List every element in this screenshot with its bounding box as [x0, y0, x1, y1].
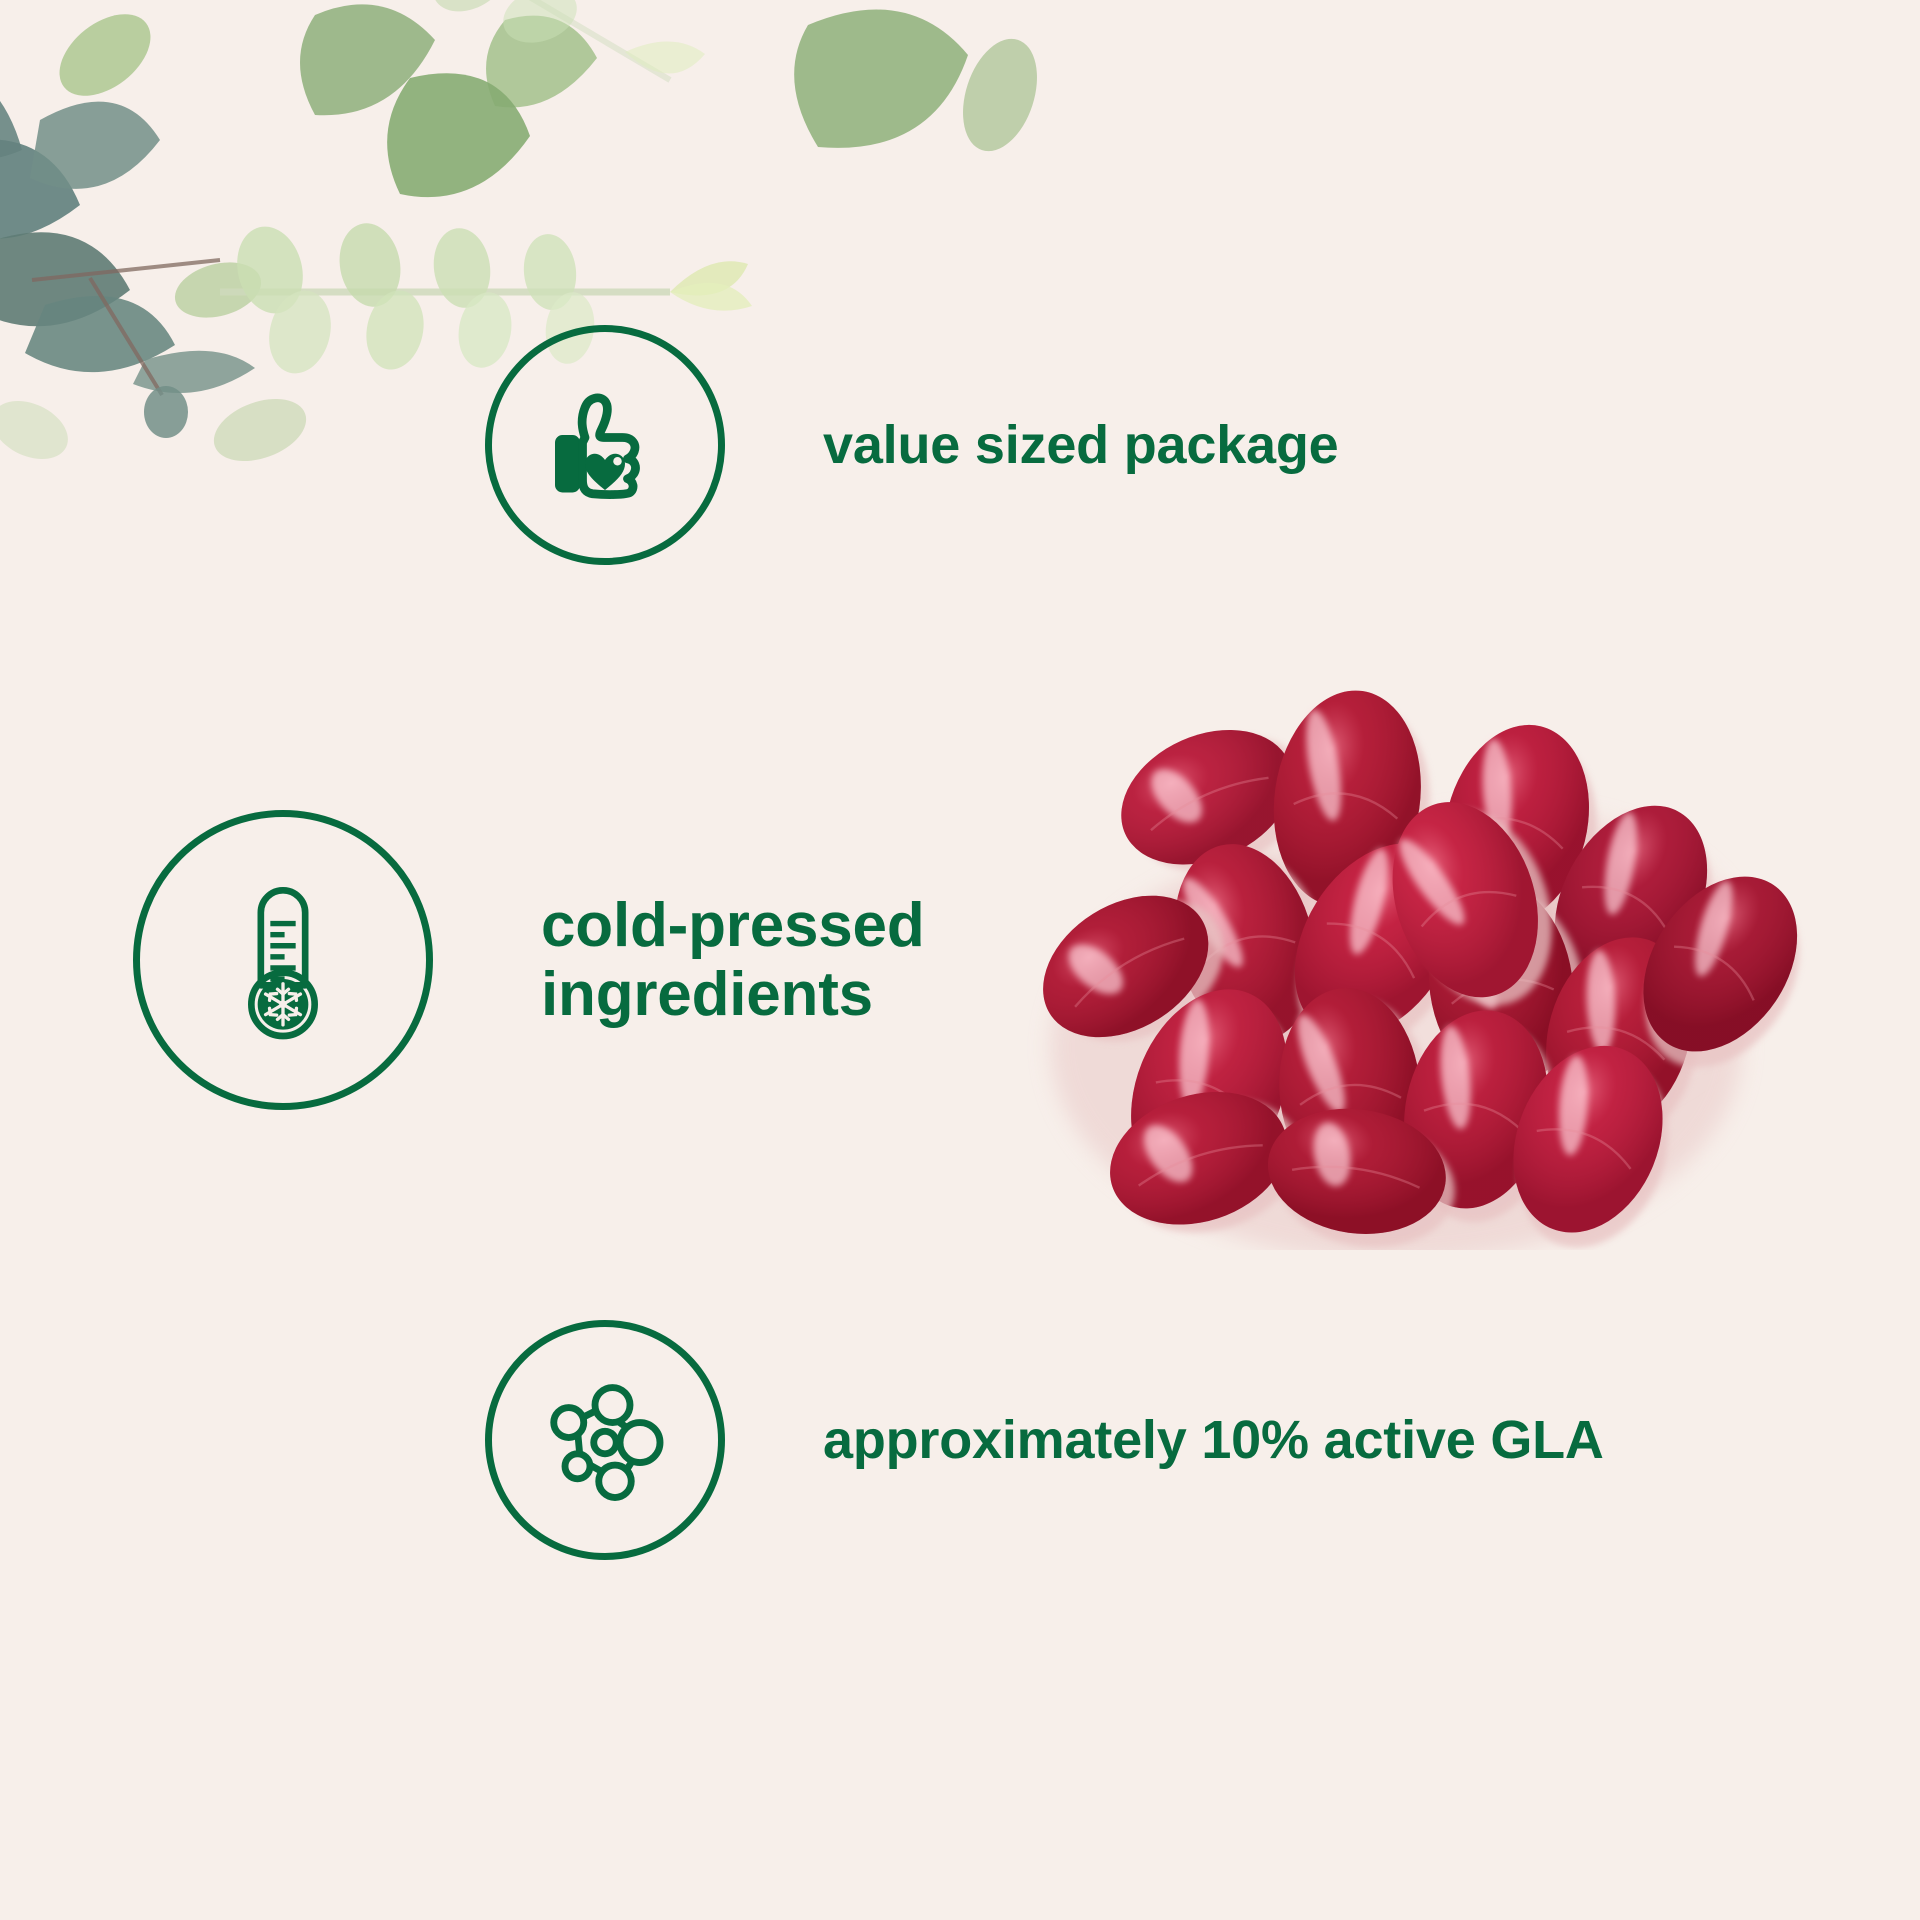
feature-label-value-sized-package: value sized package	[823, 415, 1338, 475]
molecule-icon	[485, 1320, 725, 1560]
thermometer-snowflake-icon	[133, 810, 433, 1110]
red-softgel-capsules-photo	[980, 690, 1860, 1250]
feature-row-active-gla: approximately 10% active GLA	[485, 1320, 1604, 1560]
feature-row-cold-pressed-ingredients: cold-pressed ingredients	[133, 810, 925, 1110]
infographic-canvas: value sized package	[0, 0, 1920, 1920]
feature-row-value-sized-package: value sized package	[485, 325, 1338, 565]
thumbs-up-heart-icon	[485, 325, 725, 565]
feature-label-cold-pressed-ingredients: cold-pressed ingredients	[541, 891, 925, 1030]
feature-label-active-gla: approximately 10% active GLA	[823, 1410, 1604, 1470]
